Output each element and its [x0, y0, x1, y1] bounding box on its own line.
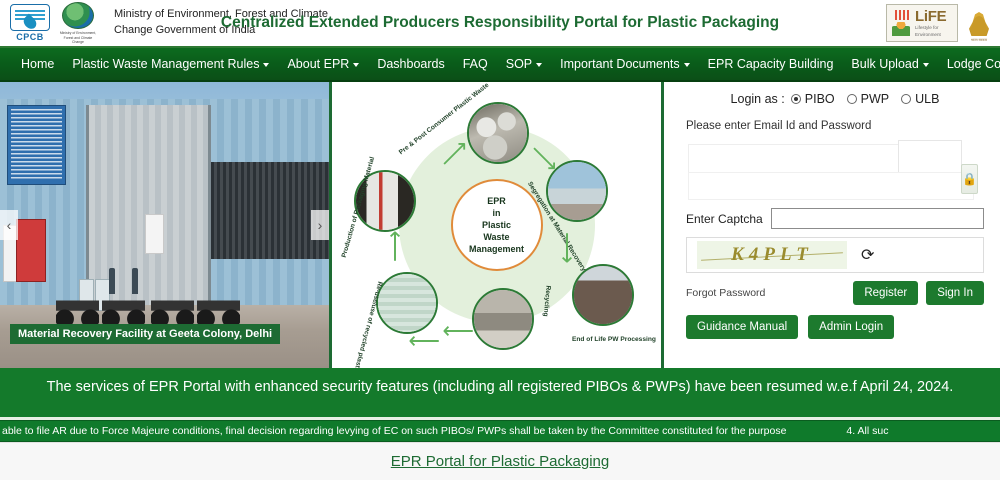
cpcb-logo: CPCB [8, 3, 52, 43]
captcha-input[interactable] [771, 208, 984, 229]
nav-item-sop[interactable]: SOP [497, 51, 551, 77]
nav-item-label: Dashboards [377, 57, 444, 71]
india-emblem-icon: भारत सरकार [966, 4, 992, 42]
nav-item-important-documents[interactable]: Important Documents [551, 51, 699, 77]
diagram-arrow-6-icon: ⟶ [418, 330, 440, 352]
epr-portal-link[interactable]: EPR Portal for Plastic Packaging [391, 453, 609, 470]
emblem-caption: भारत सरकार [971, 37, 987, 42]
nav-item-label: Important Documents [560, 57, 680, 71]
nav-item-about-epr[interactable]: About EPR [278, 51, 368, 77]
login-as-label: Login as : [731, 92, 785, 106]
diagram-center: EPR in Plastic Waste Management [451, 179, 543, 271]
nav-item-bulk-upload[interactable]: Bulk Upload [842, 51, 937, 77]
moefcc-logo: Ministry of Environment, Forest and Clim… [58, 2, 98, 44]
sign-in-button[interactable]: Sign In [926, 281, 984, 305]
radio-pwp-icon[interactable] [847, 94, 857, 104]
nav-item-lodge-complaint[interactable]: Lodge Complaint [938, 51, 1000, 77]
carousel-next-icon[interactable]: › [311, 210, 329, 240]
nav-item-label: Home [21, 57, 54, 71]
header-right-logos: LiFE Lifestyle for Environment भारत सरका… [886, 4, 992, 42]
chevron-down-icon [536, 63, 542, 67]
diagram-label-recycling: Recycling [542, 285, 552, 317]
nav-item-label: Bulk Upload [851, 57, 918, 71]
nav-item-label: Lodge Complaint [947, 57, 1000, 71]
diagram-arrow-4-icon: ⟶ [452, 320, 474, 342]
ticker-item-2: 4. All suc [846, 425, 888, 437]
header-logos: CPCB Ministry of Environment, Forest and… [8, 2, 328, 44]
login-option-pwp[interactable]: PWP [847, 92, 889, 106]
admin-login-button[interactable]: Admin Login [808, 315, 894, 339]
nav-item-label: About EPR [287, 57, 349, 71]
service-notice-banner: The services of EPR Portal with enhanced… [0, 368, 1000, 420]
life-wordmark: LiFE [915, 9, 946, 24]
diagram-label-reuse-recycled-plastic: Re-use/use of recycled plastic [352, 281, 383, 368]
radio-ulb-icon[interactable] [901, 94, 911, 104]
guidance-manual-button[interactable]: Guidance Manual [686, 315, 798, 339]
diagram-node-end-of-life-processing [572, 264, 634, 326]
main-navigation: HomePlastic Waste Management RulesAbout … [0, 48, 1000, 82]
ticker-item-1: able to file AR due to Force Majeure con… [2, 425, 786, 437]
login-option-ulb[interactable]: ULB [901, 92, 939, 106]
cpcb-emblem-icon [10, 4, 50, 31]
lock-icon: 🔒 [962, 173, 977, 185]
ministry-line-2: Change Government of India [114, 23, 328, 39]
secondary-actions-row: Guidance Manual Admin Login [686, 315, 984, 339]
nav-item-label: FAQ [463, 57, 488, 71]
login-option-ulb-label: ULB [915, 92, 939, 106]
news-ticker[interactable]: able to file AR due to Force Majeure con… [0, 420, 1000, 442]
chevron-down-icon [923, 63, 929, 67]
chevron-down-icon [684, 63, 690, 67]
captcha-input-row: Enter Captcha [686, 208, 984, 229]
captcha-label: Enter Captcha [686, 212, 763, 226]
diagram-arrow-3-icon: ⟶ [556, 232, 578, 254]
nav-item-label: SOP [506, 57, 532, 71]
diagram-label-end-of-life-processing: End of Life PW Processing [572, 336, 656, 343]
credentials-hint: Please enter Email Id and Password [686, 120, 984, 132]
moefcc-emblem-icon [62, 2, 94, 29]
carousel-prev-icon[interactable]: ‹ [0, 210, 18, 240]
login-actions-row: Forgot Password Register Sign In [686, 281, 984, 305]
login-option-pibo[interactable]: PIBO [791, 92, 835, 106]
life-tagline-1: Lifestyle for [915, 25, 946, 31]
register-button[interactable]: Register [853, 281, 918, 305]
diagram-arrow-5-icon: ⟶ [384, 240, 406, 262]
login-panel: Login as : PIBO PWP ULB Please enter Ema… [664, 82, 1000, 368]
nav-item-label: Plastic Waste Management Rules [72, 57, 259, 71]
captcha-display-box: K4PLT ⟳ [686, 237, 984, 273]
login-option-pibo-label: PIBO [805, 92, 835, 106]
image-carousel[interactable]: ‹ › Material Recovery Facility at Geeta … [0, 82, 332, 368]
captcha-characters: K4PLT [731, 244, 813, 266]
nav-item-epr-capacity-building[interactable]: EPR Capacity Building [699, 51, 843, 77]
radio-pibo-icon[interactable] [791, 94, 801, 104]
ministry-line-1: Ministry of Environment, Forest and Clim… [114, 7, 328, 23]
diagram-node-recycling [472, 288, 534, 350]
captcha-image: K4PLT [697, 241, 847, 269]
cpcb-label: CPCB [16, 32, 44, 42]
credentials-fields-area[interactable]: 🔒 [686, 138, 984, 200]
nav-item-plastic-waste-management-rules[interactable]: Plastic Waste Management Rules [63, 51, 278, 77]
nav-item-faq[interactable]: FAQ [454, 51, 497, 77]
chevron-down-icon [353, 63, 359, 67]
login-as-row: Login as : PIBO PWP ULB [686, 92, 984, 106]
forgot-password-link[interactable]: Forgot Password [686, 287, 765, 299]
life-tagline-2: Environment [915, 32, 946, 38]
refresh-captcha-icon[interactable]: ⟳ [861, 245, 874, 265]
nav-item-home[interactable]: Home [12, 51, 63, 77]
login-option-pwp-label: PWP [861, 92, 889, 106]
diagram-node-reuse-recycled-plastic [376, 272, 438, 334]
epr-cycle-diagram: Pre & Post Consumer Plastic Waste Segreg… [332, 82, 664, 368]
life-logo: LiFE Lifestyle for Environment [886, 4, 958, 42]
diagram-node-pre-post-consumer-waste [467, 102, 529, 164]
nav-item-label: EPR Capacity Building [708, 57, 834, 71]
credentials-overlay[interactable] [688, 172, 974, 200]
moefcc-caption: Ministry of Environment, Forest and Clim… [58, 31, 98, 44]
chevron-down-icon [263, 63, 269, 67]
main-content: ‹ › Material Recovery Facility at Geeta … [0, 82, 1000, 368]
carousel-caption: Material Recovery Facility at Geeta Colo… [10, 324, 280, 344]
life-sun-icon [890, 9, 912, 37]
footer-section: EPR Portal for Plastic Packaging [0, 442, 1000, 480]
page-header: CPCB Ministry of Environment, Forest and… [0, 0, 1000, 48]
password-manager-button[interactable]: 🔒 [961, 164, 978, 194]
nav-item-dashboards[interactable]: Dashboards [368, 51, 453, 77]
diagram-center-text: EPR in Plastic Waste Management [469, 195, 524, 256]
ministry-name: Ministry of Environment, Forest and Clim… [114, 7, 328, 39]
